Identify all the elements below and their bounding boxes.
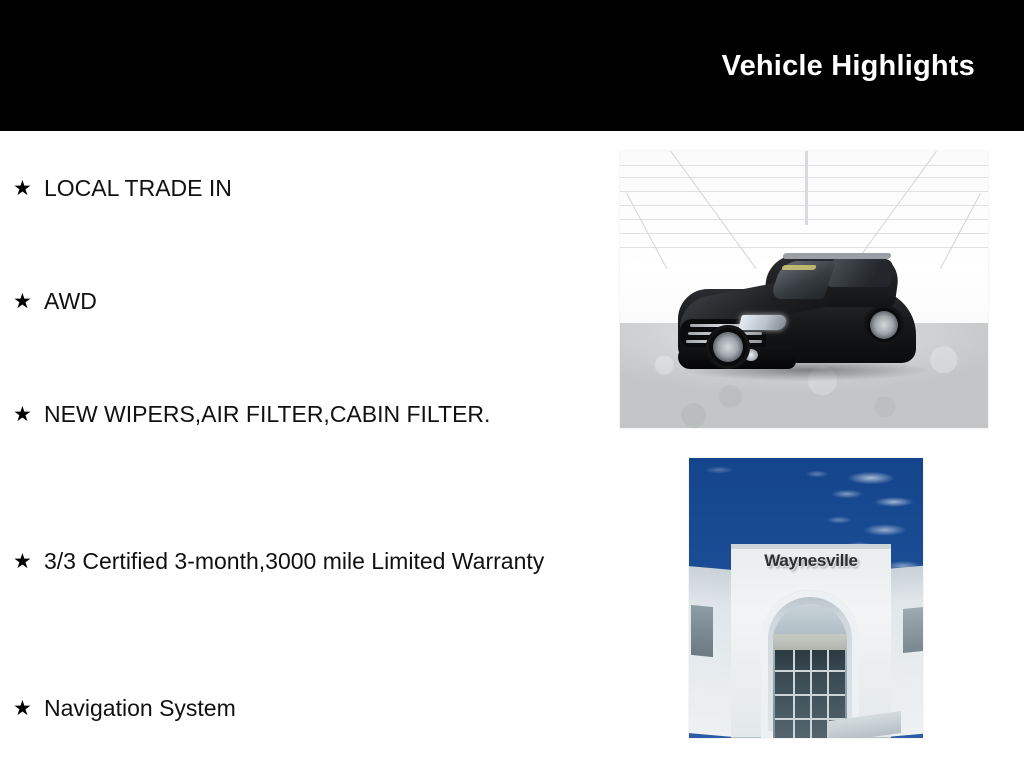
list-item-label: NEW WIPERS,AIR FILTER,CABIN FILTER.: [44, 398, 574, 431]
star-icon: ★: [13, 285, 32, 318]
vehicle-photo[interactable]: [620, 151, 988, 428]
list-item-label: LOCAL TRADE IN: [44, 172, 574, 205]
star-icon: ★: [13, 172, 32, 205]
list-item: ★ AWD: [0, 285, 574, 318]
list-item: ★ 3/3 Certified 3-month,3000 mile Limite…: [0, 545, 574, 578]
list-item-label: 3/3 Certified 3-month,3000 mile Limited …: [44, 545, 574, 578]
header-bar: Vehicle Highlights: [0, 0, 1024, 131]
list-item: ★ NEW WIPERS,AIR FILTER,CABIN FILTER.: [0, 398, 574, 431]
list-item-label: AWD: [44, 285, 574, 318]
facade-cap: [731, 544, 891, 549]
dealership-photo[interactable]: Waynesville: [689, 458, 923, 738]
star-icon: ★: [13, 692, 32, 725]
suv-illustration: [678, 231, 940, 386]
wing-window-right: [903, 607, 923, 653]
list-item-label: Navigation System: [44, 692, 574, 725]
star-icon: ★: [13, 545, 32, 578]
dealership-sign-text: Waynesville: [731, 551, 891, 571]
page-title: Vehicle Highlights: [722, 49, 975, 83]
star-icon: ★: [13, 398, 32, 431]
list-item: ★ LOCAL TRADE IN: [0, 172, 574, 205]
list-item: ★ Navigation System: [0, 692, 574, 725]
wing-window-left: [691, 605, 713, 657]
vehicle-highlights-list: ★ LOCAL TRADE IN ★ AWD ★ NEW WIPERS,AIR …: [0, 131, 610, 768]
